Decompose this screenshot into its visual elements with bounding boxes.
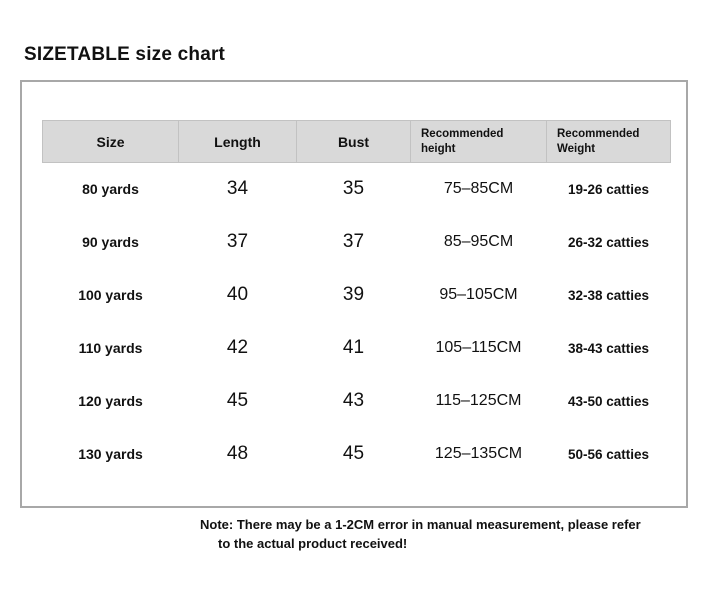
column-header-bust: Bust	[297, 121, 411, 163]
cell-size: 90 yards	[43, 216, 179, 269]
cell-length: 45	[179, 375, 297, 428]
cell-size: 130 yards	[43, 428, 179, 481]
measurement-note: Note: There may be a 1-2CM error in manu…	[200, 516, 700, 554]
cell-weight: 32-38 catties	[547, 269, 671, 322]
cell-size: 110 yards	[43, 322, 179, 375]
column-header-length: Length	[179, 121, 297, 163]
column-header-recommended-weight-line1: Recommended	[557, 127, 664, 141]
column-header-recommended-weight: Recommended Weight	[547, 121, 671, 163]
column-header-recommended-weight-line2: Weight	[557, 142, 664, 156]
cell-bust: 45	[297, 428, 411, 481]
cell-height: 95–105CM	[411, 269, 547, 322]
cell-weight: 19-26 catties	[547, 163, 671, 216]
size-chart-table: Size Length Bust Recommended height Reco…	[42, 120, 671, 481]
column-header-recommended-height-line1: Recommended	[421, 127, 540, 141]
cell-size: 120 yards	[43, 375, 179, 428]
column-header-length-line1: Length	[185, 134, 290, 150]
table-row: 90 yards 37 37 85–95CM 26-32 catties	[43, 216, 671, 269]
cell-bust: 41	[297, 322, 411, 375]
column-header-bust-line1: Bust	[303, 134, 404, 150]
measurement-note-line2: to the actual product received!	[200, 535, 700, 554]
page-title: SIZETABLE size chart	[24, 44, 225, 66]
cell-weight: 50-56 catties	[547, 428, 671, 481]
cell-weight: 26-32 catties	[547, 216, 671, 269]
cell-length: 42	[179, 322, 297, 375]
cell-bust: 43	[297, 375, 411, 428]
size-chart-frame: Size Length Bust Recommended height Reco…	[20, 80, 688, 508]
table-row: 110 yards 42 41 105–115CM 38-43 catties	[43, 322, 671, 375]
cell-size: 100 yards	[43, 269, 179, 322]
table-header-row: Size Length Bust Recommended height Reco…	[43, 121, 671, 163]
cell-length: 40	[179, 269, 297, 322]
table-row: 80 yards 34 35 75–85CM 19-26 catties	[43, 163, 671, 216]
column-header-recommended-height: Recommended height	[411, 121, 547, 163]
column-header-recommended-height-line2: height	[421, 142, 540, 156]
cell-weight: 38-43 catties	[547, 322, 671, 375]
cell-height: 105–115CM	[411, 322, 547, 375]
cell-bust: 35	[297, 163, 411, 216]
table-row: 120 yards 45 43 115–125CM 43-50 catties	[43, 375, 671, 428]
measurement-note-line1: Note: There may be a 1-2CM error in manu…	[200, 517, 641, 532]
column-header-size-line1: Size	[49, 134, 172, 150]
cell-height: 75–85CM	[411, 163, 547, 216]
cell-length: 48	[179, 428, 297, 481]
cell-size: 80 yards	[43, 163, 179, 216]
cell-height: 85–95CM	[411, 216, 547, 269]
cell-length: 37	[179, 216, 297, 269]
cell-height: 125–135CM	[411, 428, 547, 481]
table-row: 100 yards 40 39 95–105CM 32-38 catties	[43, 269, 671, 322]
cell-weight: 43-50 catties	[547, 375, 671, 428]
column-header-size: Size	[43, 121, 179, 163]
table-row: 130 yards 48 45 125–135CM 50-56 catties	[43, 428, 671, 481]
cell-bust: 39	[297, 269, 411, 322]
cell-length: 34	[179, 163, 297, 216]
cell-bust: 37	[297, 216, 411, 269]
cell-height: 115–125CM	[411, 375, 547, 428]
